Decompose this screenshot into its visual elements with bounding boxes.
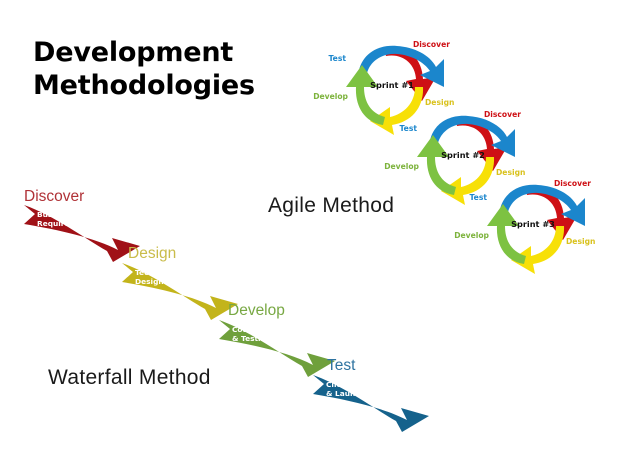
agile-label-develop-sprint-2: Develop: [384, 162, 419, 171]
diagram-canvas: Discover Business Requirements Design Te…: [0, 0, 640, 449]
waterfall-heading-develop: Develop: [228, 302, 285, 319]
agile-label-discover-sprint-2: Discover: [484, 110, 521, 119]
agile-label-design-sprint-3: Design: [566, 237, 595, 246]
waterfall-inner-design-line1: Technical: [135, 268, 173, 277]
agile-arrow-develop-sprint-2: [417, 135, 456, 195]
agile-arrow-design-sprint-3: [511, 226, 564, 274]
agile-label-discover-sprint-3: Discover: [554, 179, 591, 188]
waterfall-inner-discover-line1: Business: [37, 210, 75, 219]
agile-label-test-sprint-1: Test: [329, 54, 347, 63]
agile-label-test-sprint-2: Test: [400, 124, 418, 133]
waterfall-inner-design-line2: Design: [135, 277, 164, 286]
agile-sprint-3-label: Sprint #3: [511, 219, 555, 229]
agile-label-develop-sprint-3: Develop: [454, 231, 489, 240]
agile-sprint-1-label: Sprint #1: [370, 80, 414, 90]
agile-label-design-sprint-1: Design: [425, 98, 454, 107]
agile-arrow-develop-sprint-3: [487, 204, 526, 264]
waterfall-stage-design[interactable]: Design Technical Design: [122, 245, 238, 320]
agile-sprint-2[interactable]: Discover Test Design Develop Sprint #2: [384, 110, 525, 205]
waterfall-inner-develop-line1: Coding: [232, 325, 261, 334]
waterfall-heading-test: Test: [327, 357, 356, 374]
agile-label-test-sprint-3: Test: [470, 193, 488, 202]
agile-label-discover-sprint-1: Discover: [413, 40, 450, 49]
waterfall-diagram: Discover Business Requirements Design Te…: [24, 188, 429, 432]
agile-diagram: Discover Test Design Develop Sprint #1 D…: [313, 40, 595, 274]
waterfall-inner-develop-line2: & Testing: [232, 334, 271, 343]
agile-label-design-sprint-2: Design: [496, 168, 525, 177]
agile-sprint-1[interactable]: Discover Test Design Develop Sprint #1: [313, 40, 454, 135]
agile-arrow-develop-sprint-1: [346, 65, 385, 125]
waterfall-heading-discover: Discover: [24, 188, 84, 205]
waterfall-stage-develop[interactable]: Develop Coding & Testing: [219, 302, 335, 377]
agile-sprint-2-label: Sprint #2: [441, 150, 485, 160]
waterfall-inner-test-line1: Client OK: [326, 380, 365, 389]
waterfall-inner-test-line2: & Launch: [326, 389, 365, 398]
waterfall-heading-design: Design: [128, 245, 176, 262]
agile-sprint-3[interactable]: Discover Test Design Develop Sprint #3: [454, 179, 595, 274]
waterfall-stage-test[interactable]: Test Client OK & Launch: [313, 357, 429, 432]
agile-label-develop-sprint-1: Develop: [313, 92, 348, 101]
waterfall-stage-discover[interactable]: Discover Business Requirements: [24, 188, 140, 262]
waterfall-inner-discover-line2: Requirements: [37, 219, 96, 228]
